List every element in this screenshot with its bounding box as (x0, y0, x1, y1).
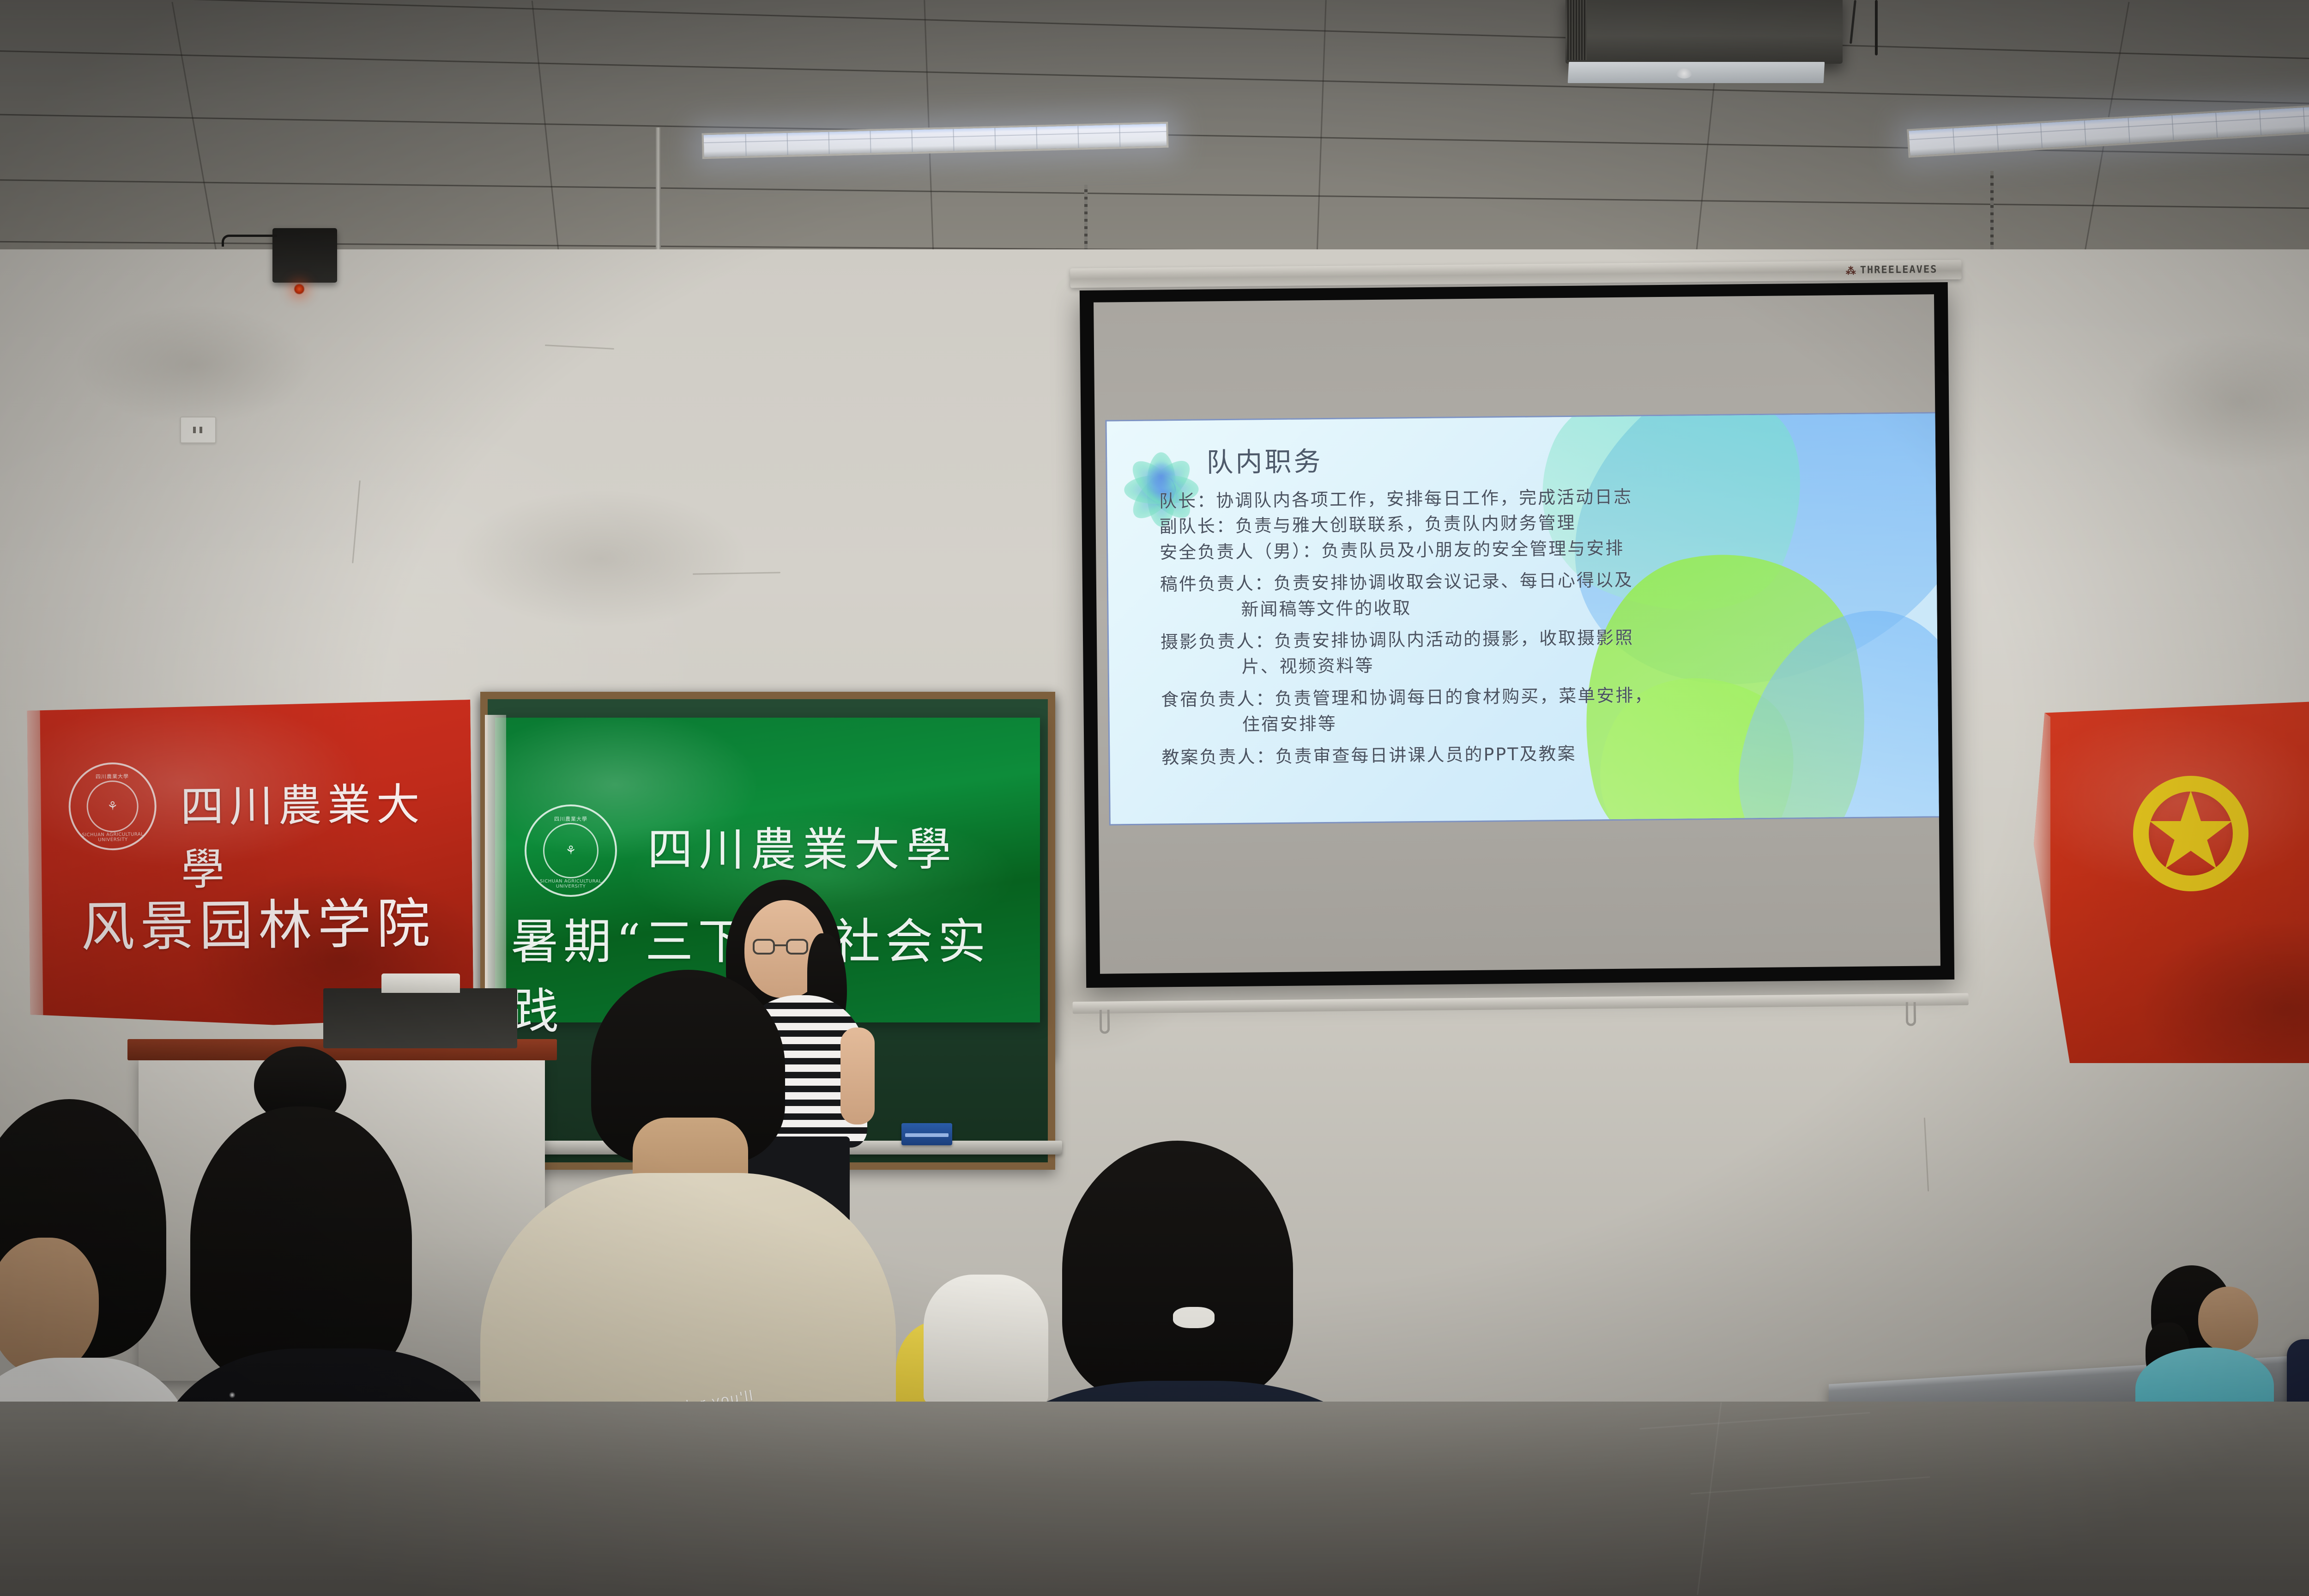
university-seal-icon: 四川農業大學 ⚘ SICHUAN AGRICULTURAL UNIVERSITY (68, 762, 157, 851)
youth-league-emblem-icon (2133, 776, 2249, 891)
ceiling-projector (1566, 0, 1843, 64)
screen-brand-label: ⁂THREELEAVES (1846, 264, 1938, 276)
youth-league-flag (2034, 698, 2309, 1063)
projected-slide: 队内职务 队长：协调队内各项工作，安排每日工作，完成活动日志 副队长：负责与雅大… (1107, 413, 1940, 824)
slide-line: 片、视频资料等 (1161, 649, 1918, 679)
hair (190, 1106, 412, 1384)
slide-line: 住宿安排等 (1161, 707, 1919, 737)
classroom-photo-scene: ⁂THREELEAVES (0, 0, 2309, 1596)
blackboard-eraser[interactable] (901, 1123, 952, 1145)
screen-surface: 队内职务 队长：协调队内各项工作，安排每日工作，完成活动日志 副队长：负责与雅大… (1094, 294, 1940, 973)
slide-line: 教案负责人：负责审查每日讲课人员的PPT及教案 (1161, 739, 1919, 769)
ceiling-light-right (1907, 100, 2309, 157)
glasses-icon (753, 939, 808, 955)
wall-mounted-device (272, 228, 337, 283)
floor (0, 1402, 2309, 1596)
slide-line: 队长：协调队内各项工作，安排每日工作，完成活动日志 (1159, 483, 1916, 513)
slide-line: 稿件负责人：负责安排协调收取会议记录、每日心得以及 (1160, 566, 1917, 596)
student-right-white-back (924, 1256, 1048, 1404)
screen-black-border: 队内职务 队长：协调队内各项工作，安排每日工作，完成活动日志 副队长：负责与雅大… (1080, 282, 1954, 988)
ceiling (0, 0, 2309, 259)
slide-body: 队长：协调队内各项工作，安排每日工作，完成活动日志 副队长：负责与雅大创联联系，… (1159, 483, 1919, 772)
slide-line: 安全负责人（男）：负责队员及小朋友的安全管理与安排 (1160, 534, 1917, 564)
banner-green-university-text: 四川農業大學 (647, 813, 958, 878)
slide-line: 副队长：负责与雅大创联联系，负责队内财务管理 (1159, 508, 1916, 538)
wall-power-socket[interactable] (180, 417, 216, 443)
head (2198, 1287, 2258, 1351)
projection-screen: ⁂THREELEAVES (1080, 282, 1954, 988)
projector-cable (1875, 0, 1878, 55)
star-icon (2148, 791, 2234, 877)
student-right-cyan (2097, 1265, 2272, 1418)
slide-line: 食宿负责人：负责管理和协调每日的食材购买，菜单安排， (1161, 681, 1918, 711)
hair-tie (1173, 1307, 1215, 1328)
slide-line: 新闻稿等文件的收取 (1160, 592, 1917, 622)
threeleaves-logo-icon: ⁂ (1846, 266, 1857, 277)
projector-cable-secondary (1850, 0, 1856, 44)
hair (1062, 1141, 1293, 1399)
slide-title: 队内职务 (1206, 440, 1323, 479)
university-seal-icon: 四川農業大學 ⚘ SICHUAN AGRICULTURAL UNIVERSITY (525, 804, 617, 897)
status-led-indicator (294, 284, 305, 295)
slide-line: 摄影负责人：负责安排协调队内活动的摄影，收取摄影照 (1161, 624, 1918, 654)
torso-white (924, 1275, 1048, 1404)
banner-red-college-text: 风景园林学院 (80, 880, 436, 961)
banner-red-university-text: 四川農業大學 (180, 769, 472, 898)
